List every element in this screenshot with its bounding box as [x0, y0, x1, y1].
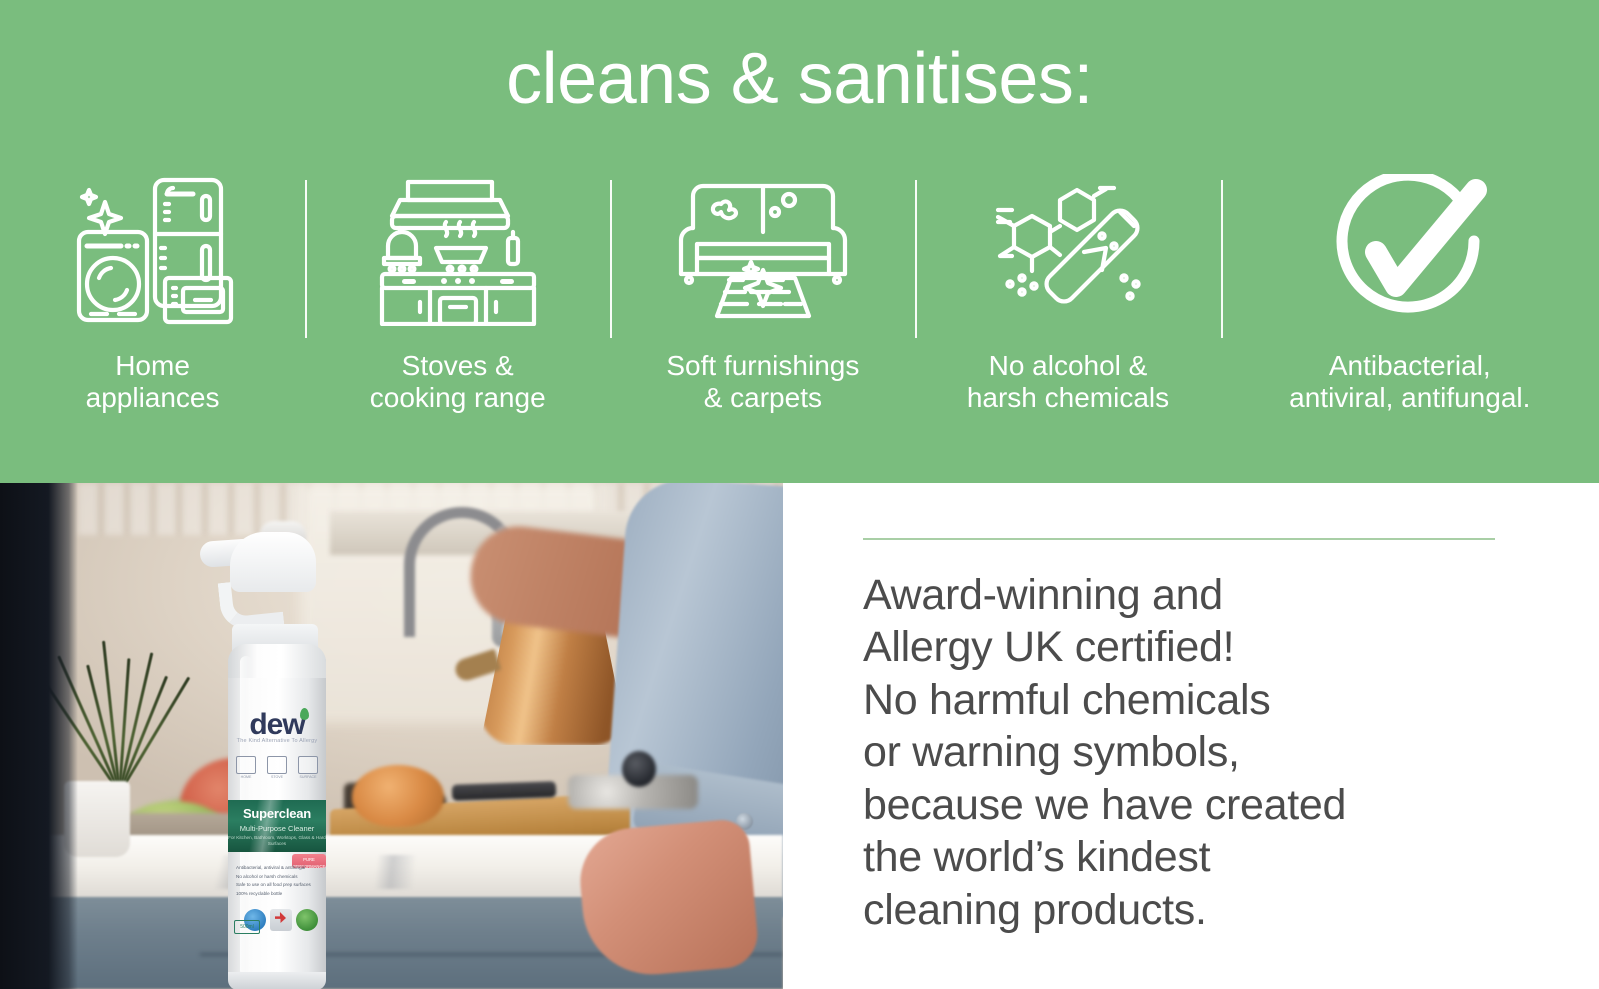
product-bullets: Antibacterial, antiviral & antifungal No…: [236, 864, 320, 899]
label-pictograms: HOME STOVE SURFACE: [236, 756, 318, 790]
feature-label: Antibacterial, antiviral, antifungal.: [1289, 350, 1530, 414]
photo-hob-knob: [622, 751, 656, 787]
vegan-seal-icon: [296, 909, 318, 931]
spray-trigger-lever: [218, 577, 285, 631]
feature-antibacterial-antiviral-antifungal: Antibacterial, antiviral, antifungal.: [1221, 170, 1599, 414]
brand-tagline: The Kind Alternative To Allergy: [228, 738, 326, 744]
molecule-test-tube-icon: [984, 170, 1152, 330]
bullet-item: 100% recyclable bottle: [236, 890, 320, 899]
feature-stoves-cooking-range: Stoves & cooking range: [305, 170, 610, 414]
stove-cooking-range-icon: [374, 170, 542, 330]
water-drop-icon: [300, 708, 309, 720]
photo-onion: [352, 765, 444, 827]
picto-surfaces: SURFACE: [298, 756, 318, 779]
bullet-item: No alcohol or harsh chemicals: [236, 873, 320, 882]
feature-label: Soft furnishings & carpets: [666, 350, 859, 414]
feature-list: Home appliances: [0, 170, 1599, 450]
feature-label: No alcohol & harsh chemicals: [967, 350, 1169, 414]
feature-soft-furnishings-carpets: Soft furnishings & carpets: [610, 170, 915, 414]
made-in-uk-seal-icon: [270, 909, 292, 931]
picto-caption: HOME: [236, 775, 256, 779]
check-circle-icon: [1322, 170, 1498, 330]
picto-box: [298, 756, 318, 774]
picto-appliances: HOME: [236, 756, 256, 779]
divider-rule: [863, 538, 1495, 540]
home-appliances-icon: [69, 170, 237, 330]
kitchen-photo: dew The Kind Alternative To Allergy HOME…: [0, 483, 783, 989]
page-title: cleans & sanitises:: [0, 40, 1599, 119]
feature-no-alcohol-harsh-chemicals: No alcohol & harsh chemicals: [915, 170, 1220, 414]
feature-home-appliances: Home appliances: [0, 170, 305, 414]
right-text-panel: Award-winning and Allergy UK certified! …: [783, 483, 1599, 989]
picto-box: [267, 756, 287, 774]
picto-box: [236, 756, 256, 774]
brand-logo: dew: [228, 710, 326, 740]
sofa-carpet-icon: [673, 170, 853, 330]
marketing-blurb: Award-winning and Allergy UK certified! …: [863, 569, 1563, 936]
photo-dark-edge: [0, 483, 78, 989]
spray-bottle: dew The Kind Alternative To Allergy HOME…: [196, 532, 356, 987]
label-band-shine: [228, 800, 326, 852]
green-banner: cleans & sanitises:: [0, 0, 1599, 483]
product-size: 500ml: [234, 920, 260, 934]
bottle-base: [228, 972, 326, 989]
feature-label: Home appliances: [86, 350, 220, 414]
promo-banner-page: cleans & sanitises:: [0, 0, 1599, 989]
picto-stove: STOVE: [267, 756, 287, 779]
picto-caption: SURFACE: [298, 775, 318, 779]
picto-caption: STOVE: [267, 775, 287, 779]
bullet-item: Antibacterial, antiviral & antifungal: [236, 864, 320, 873]
feature-label: Stoves & cooking range: [370, 350, 546, 414]
bullet-item: Safe to use on all food prep surfaces: [236, 881, 320, 890]
